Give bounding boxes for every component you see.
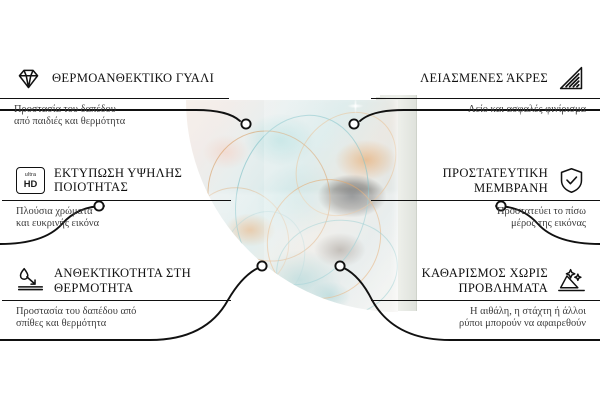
- feature-subtitle: Προστασία του δαπέδου από σπίθες και θερ…: [16, 306, 231, 331]
- feature-title: ΛΕΙΑΣΜΕΝΕΣ ΆΚΡΕΣ: [420, 71, 548, 85]
- feature-subtitle-line1: Η αιθάλη, η στάχτη ή άλλοι: [470, 306, 586, 317]
- infographic-canvas: ΘΕΡΜΟΑΝΘΕΚΤΙΚΟ ΓΥΑΛΙ Προστασία του δαπέδ…: [0, 0, 600, 400]
- shield-check-icon: [557, 166, 586, 195]
- ultra-hd-icon-bottom: HD: [24, 179, 38, 188]
- feature-high-quality-print: ultra HD ΕΚΤΥΠΩΣΗ ΥΨΗΛΗΣ ΠΟΙΟΤΗΤΑΣ Πλούσ…: [16, 166, 231, 231]
- feature-protective-membrane: ΠΡΟΣΤΑΤΕΥΤΙΚΗ ΜΕΜΒΡΑΝΗ Προστατεύει το πί…: [371, 166, 586, 231]
- ultra-hd-icon: ultra HD: [16, 167, 45, 194]
- feature-subtitle-line1: Προστασία του δαπέδου: [14, 104, 116, 115]
- easy-cleaning-sparkle-icon: [557, 266, 586, 295]
- feature-heat-durability: ΑΝΘΕΚΤΙΚΟΤΗΤΑ ΣΤΗ ΘΕΡΜΟΤΗΤΑ Προστασία το…: [16, 266, 231, 331]
- diamond-icon: [14, 64, 43, 93]
- feature-subtitle: Προστατεύει το πίσω μέρος της εικόνας: [371, 206, 586, 231]
- feature-subtitle: Η αιθάλη, η στάχτη ή άλλοι ρύποι μπορούν…: [371, 306, 586, 331]
- connector-dot-right-1: [349, 119, 358, 128]
- connector-dot-left-3: [257, 261, 266, 270]
- feature-divider: [371, 200, 600, 201]
- feature-divider: [2, 200, 231, 201]
- feature-subtitle-line1: Προστασία του δαπέδου από: [16, 306, 136, 317]
- feature-subtitle-line2: και ευκρινής εικόνα: [16, 218, 99, 229]
- feature-easy-cleaning: ΚΑΘΑΡΙΣΜΟΣ ΧΩΡΙΣ ΠΡΟΒΛΗΜΑΤΑ Η αιθάλη, η …: [371, 266, 586, 331]
- feature-title: ΘΕΡΜΟΑΝΘΕΚΤΙΚΟ ΓΥΑΛΙ: [52, 71, 214, 85]
- feature-subtitle-line2: ρύποι μπορούν να αφαιρεθούν: [459, 318, 586, 329]
- feature-divider: [0, 98, 229, 99]
- feature-title: ΚΑΘΑΡΙΣΜΟΣ ΧΩΡΙΣ ΠΡΟΒΛΗΜΑΤΑ: [371, 266, 548, 295]
- connector-dot-left-1: [241, 119, 250, 128]
- feature-title: ΑΝΘΕΚΤΙΚΟΤΗΤΑ ΣΤΗ ΘΕΡΜΟΤΗΤΑ: [54, 266, 231, 295]
- feature-subtitle-line1: Πλούσια χρώματα: [16, 206, 93, 217]
- feature-polished-edges: ΛΕΙΑΣΜΕΝΕΣ ΆΚΡΕΣ Λείο και ασφαλές φινίρι…: [371, 64, 586, 116]
- feature-subtitle-line1: Προστατεύει το πίσω: [497, 206, 586, 217]
- feature-divider: [371, 300, 600, 301]
- feature-title: ΠΡΟΣΤΑΤΕΥΤΙΚΗ ΜΕΜΒΡΑΝΗ: [371, 166, 548, 195]
- flame-heat-resistance-icon: [16, 266, 45, 295]
- feature-subtitle-line1: Λείο και ασφαλές φινίρισμα: [468, 104, 586, 115]
- feature-subtitle: Προστασία του δαπέδου από παιδιές και θε…: [14, 104, 229, 129]
- connector-dot-right-3: [335, 261, 344, 270]
- feature-subtitle: Λείο και ασφαλές φινίρισμα: [371, 104, 586, 116]
- feature-subtitle-line2: σπίθες και θερμότητα: [16, 318, 106, 329]
- feature-subtitle-line2: από παιδιές και θερμότητα: [14, 116, 125, 127]
- feature-divider: [2, 300, 231, 301]
- feature-divider: [371, 98, 600, 99]
- polished-edges-icon: [557, 64, 586, 93]
- feature-heat-resistant-glass: ΘΕΡΜΟΑΝΘΕΚΤΙΚΟ ΓΥΑΛΙ Προστασία του δαπέδ…: [14, 64, 229, 129]
- feature-title: ΕΚΤΥΠΩΣΗ ΥΨΗΛΗΣ ΠΟΙΟΤΗΤΑΣ: [54, 166, 231, 195]
- feature-subtitle-line2: μέρος της εικόνας: [511, 218, 586, 229]
- feature-subtitle: Πλούσια χρώματα και ευκρινής εικόνα: [16, 206, 231, 231]
